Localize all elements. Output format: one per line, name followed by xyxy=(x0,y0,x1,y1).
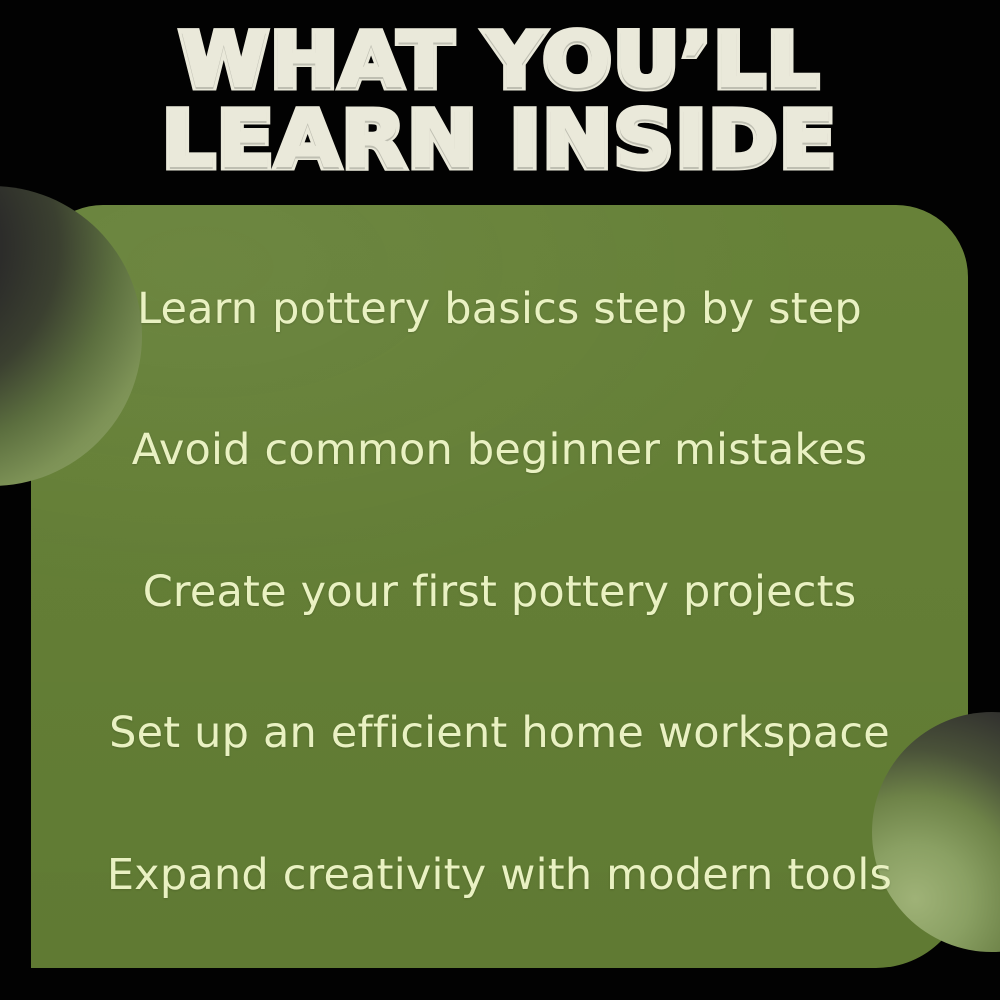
poster-canvas: WHAT YOU’LL LEARN INSIDE Learn pottery b… xyxy=(0,0,1000,1000)
benefits-list: Learn pottery basics step by step Avoid … xyxy=(31,205,968,968)
list-item: Set up an efficient home workspace xyxy=(57,710,942,757)
list-item: Avoid common beginner mistakes xyxy=(57,427,942,474)
list-item: Learn pottery basics step by step xyxy=(57,286,942,333)
headline-line-2: LEARN INSIDE xyxy=(12,106,987,178)
list-item: Expand creativity with modern tools xyxy=(57,852,942,899)
page-title: WHAT YOU’LL LEARN INSIDE xyxy=(0,26,1000,178)
headline-line-1: WHAT YOU’LL xyxy=(12,26,987,96)
list-item: Create your first pottery projects xyxy=(57,569,942,616)
